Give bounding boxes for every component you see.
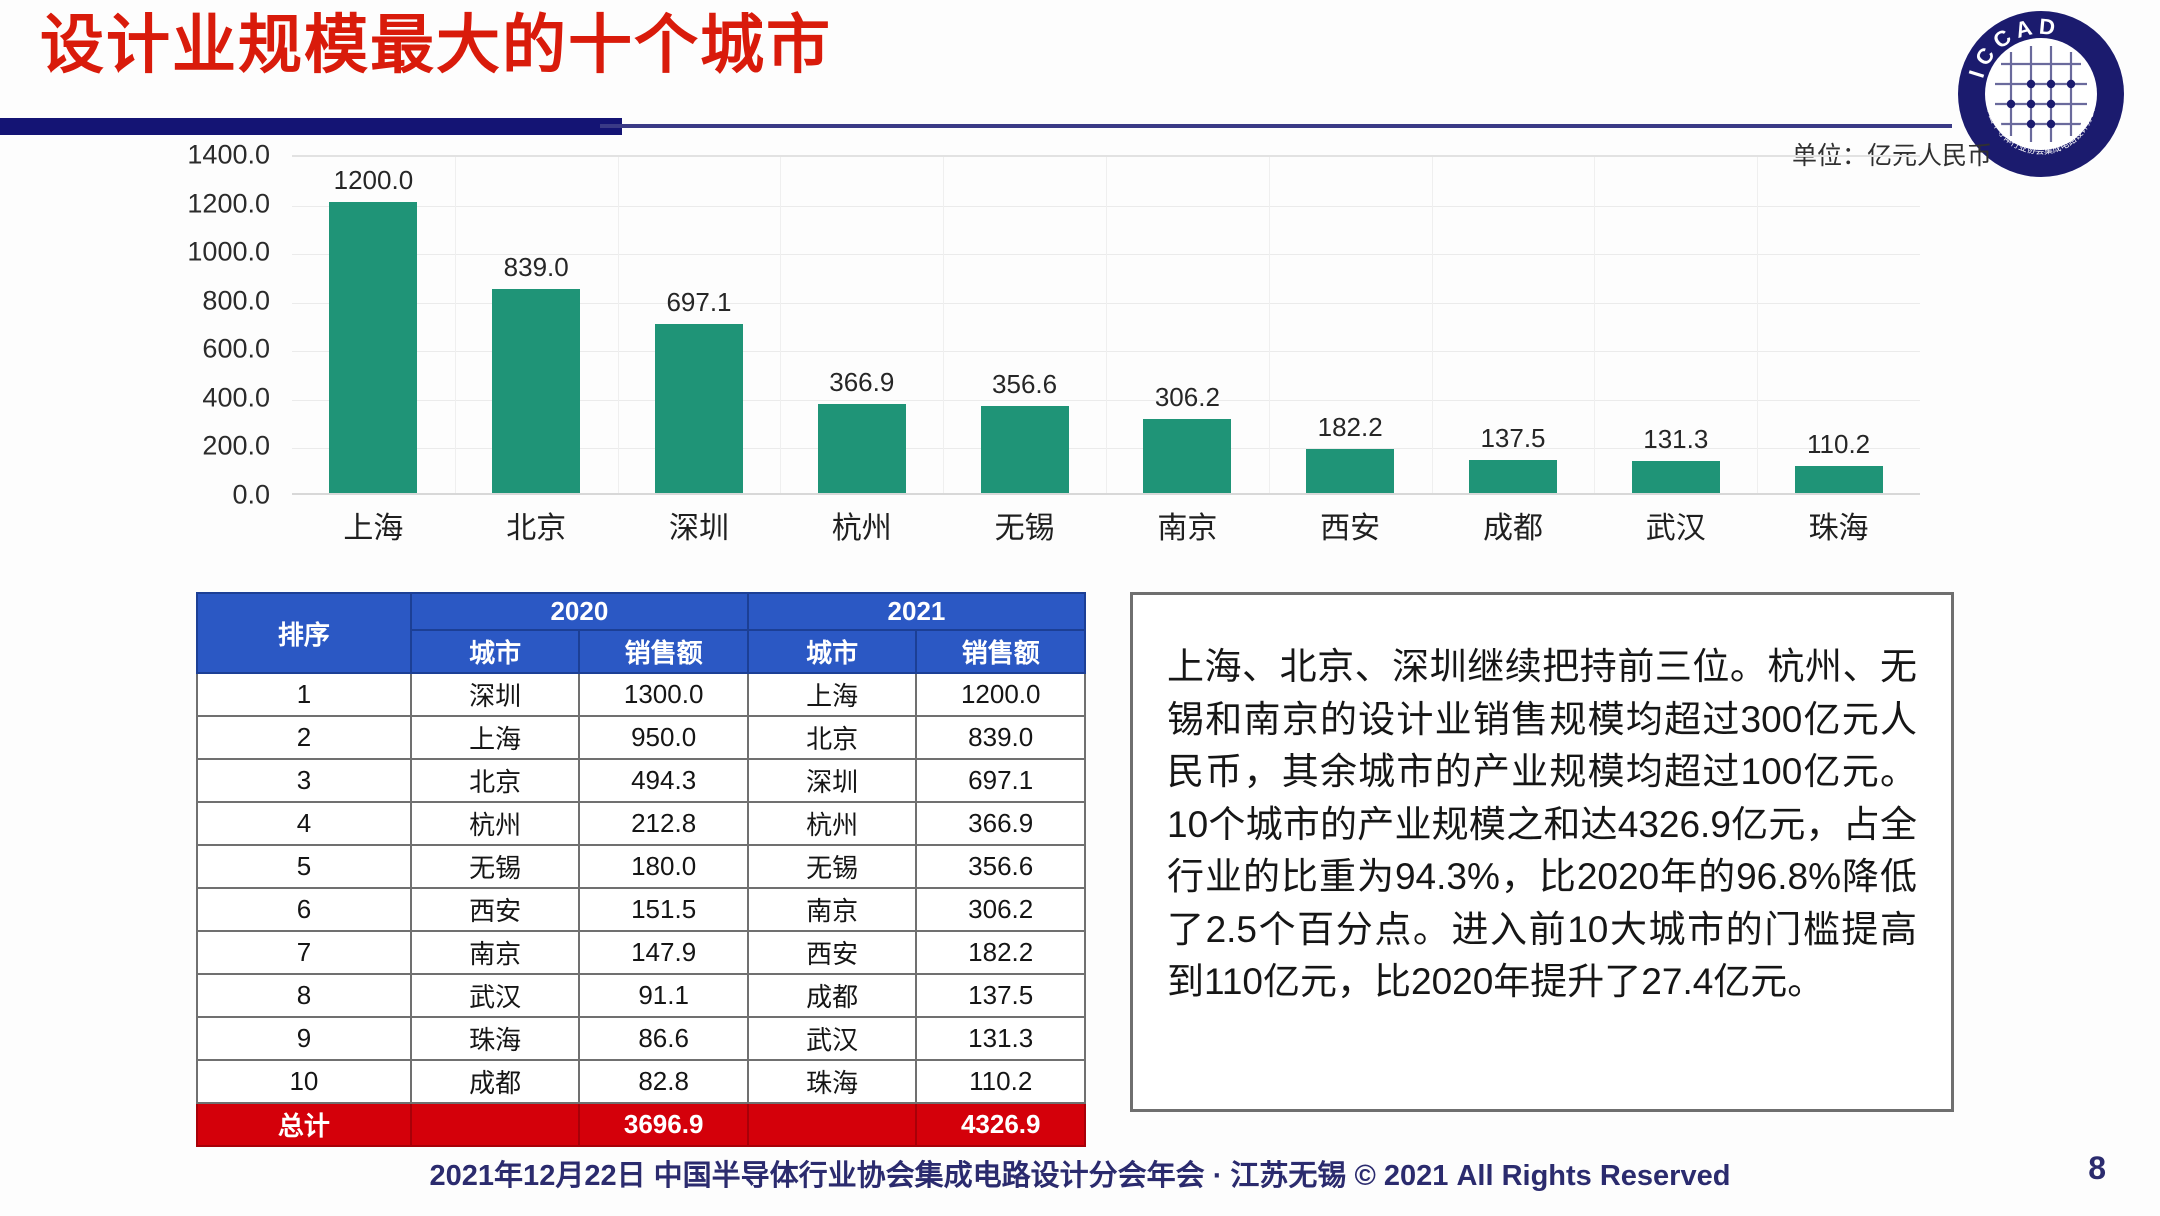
total-sales-2021: 4326.9 (916, 1103, 1085, 1146)
cell-rank: 1 (197, 673, 411, 716)
cell-rank: 7 (197, 931, 411, 974)
cell-sales-2020: 950.0 (579, 716, 748, 759)
chart-bar-slot: 1200.0 (292, 157, 455, 493)
chart-bar (1143, 419, 1231, 493)
chart-bar-value-label: 839.0 (455, 252, 618, 283)
chart-bar (655, 324, 743, 493)
chart-bar (818, 404, 906, 493)
chart-bar-value-label: 131.3 (1594, 424, 1757, 455)
cell-city-2020: 成都 (411, 1060, 580, 1103)
chart-bar-slot: 366.9 (780, 157, 943, 493)
cell-sales-2021: 839.0 (916, 716, 1085, 759)
chart-bar (981, 406, 1069, 493)
cell-sales-2021: 356.6 (916, 845, 1085, 888)
cell-rank: 8 (197, 974, 411, 1017)
total-label: 总计 (197, 1103, 411, 1146)
header-sales-2020: 销售额 (579, 630, 748, 673)
title-rule-thick (0, 118, 622, 135)
chart-bars: 1200.0839.0697.1366.9356.6306.2182.2137.… (292, 157, 1920, 493)
cell-sales-2021: 306.2 (916, 888, 1085, 931)
page-number: 8 (2088, 1150, 2106, 1187)
chart-y-tick: 200.0 (202, 431, 270, 462)
commentary-text: 上海、北京、深圳继续把持前三位。杭州、无锡和南京的设计业销售规模均超过300亿元… (1167, 641, 1917, 1009)
chart-x-tick-label: 武汉 (1594, 503, 1757, 547)
chart-bar-value-label: 306.2 (1106, 382, 1269, 413)
chart-y-tick: 1200.0 (187, 188, 270, 219)
table-row: 9珠海86.6武汉131.3 (197, 1017, 1085, 1060)
cell-sales-2020: 494.3 (579, 759, 748, 802)
table-row: 5无锡180.0无锡356.6 (197, 845, 1085, 888)
chart-y-tick: 1000.0 (187, 237, 270, 268)
chart-bar-value-label: 356.6 (943, 369, 1106, 400)
header-rank: 排序 (197, 593, 411, 673)
cell-sales-2021: 1200.0 (916, 673, 1085, 716)
table-row: 4杭州212.8杭州366.9 (197, 802, 1085, 845)
cell-sales-2021: 697.1 (916, 759, 1085, 802)
chart-bar-slot: 839.0 (455, 157, 618, 493)
chart-y-tick: 800.0 (202, 285, 270, 316)
city-ranking-table: 排序 2020 2021 城市 销售额 城市 销售额 1深圳1300.0上海12… (196, 592, 1086, 1147)
cell-city-2020: 北京 (411, 759, 580, 802)
chart-bar (1795, 466, 1883, 493)
chart-bar-slot: 306.2 (1106, 157, 1269, 493)
table-header-row-groups: 排序 2020 2021 (197, 593, 1085, 630)
table-row: 1深圳1300.0上海1200.0 (197, 673, 1085, 716)
cell-city-2021: 西安 (748, 931, 917, 974)
cell-city-2021: 无锡 (748, 845, 917, 888)
cell-rank: 6 (197, 888, 411, 931)
chart-x-axis-labels: 上海北京深圳杭州无锡南京西安成都武汉珠海 (292, 503, 1920, 547)
table-head: 排序 2020 2021 城市 销售额 城市 销售额 (197, 593, 1085, 673)
table-total-row: 总计3696.94326.9 (197, 1103, 1085, 1146)
slide-footer: 2021年12月22日 中国半导体行业协会集成电路设计分会年会 · 江苏无锡 ©… (0, 1152, 2160, 1194)
table-row: 8武汉91.1成都137.5 (197, 974, 1085, 1017)
chart-bar-slot: 137.5 (1432, 157, 1595, 493)
chart-plot-area: 1200.0839.0697.1366.9356.6306.2182.2137.… (292, 155, 1920, 495)
cell-sales-2020: 82.8 (579, 1060, 748, 1103)
cell-city-2020: 珠海 (411, 1017, 580, 1060)
table-row: 6西安151.5南京306.2 (197, 888, 1085, 931)
table-row: 7南京147.9西安182.2 (197, 931, 1085, 974)
chart-x-tick-label: 深圳 (618, 503, 781, 547)
chart-bar-value-label: 366.9 (780, 367, 943, 398)
header-year-2020: 2020 (411, 593, 748, 630)
cell-rank: 5 (197, 845, 411, 888)
table-body: 1深圳1300.0上海1200.02上海950.0北京839.03北京494.3… (197, 673, 1085, 1146)
cell-sales-2021: 366.9 (916, 802, 1085, 845)
chart-y-tick: 1400.0 (187, 140, 270, 171)
cell-sales-2020: 180.0 (579, 845, 748, 888)
table-row: 2上海950.0北京839.0 (197, 716, 1085, 759)
cell-rank: 3 (197, 759, 411, 802)
table-row: 3北京494.3深圳697.1 (197, 759, 1085, 802)
chart-bar-value-label: 110.2 (1757, 429, 1920, 460)
chart-bar (329, 202, 417, 493)
slide-root: 设计业规模最大的十个城市 (0, 0, 2160, 1216)
chart-y-axis: 1400.01200.01000.0800.0600.0400.0200.00.… (150, 155, 280, 515)
cell-city-2020: 西安 (411, 888, 580, 931)
header-city-2020: 城市 (411, 630, 580, 673)
cell-city-2021: 北京 (748, 716, 917, 759)
chart-x-tick-label: 无锡 (943, 503, 1106, 547)
chart-bar (1306, 449, 1394, 493)
cell-city-2020: 南京 (411, 931, 580, 974)
cell-rank: 9 (197, 1017, 411, 1060)
cell-sales-2021: 182.2 (916, 931, 1085, 974)
chart-bar-value-label: 182.2 (1269, 412, 1432, 443)
cell-sales-2020: 147.9 (579, 931, 748, 974)
total-city-2020 (411, 1103, 580, 1146)
header-year-2021: 2021 (748, 593, 1085, 630)
cell-city-2020: 上海 (411, 716, 580, 759)
cell-sales-2020: 212.8 (579, 802, 748, 845)
chart-x-tick-label: 珠海 (1757, 503, 1920, 547)
total-sales-2020: 3696.9 (579, 1103, 748, 1146)
commentary-box: 上海、北京、深圳继续把持前三位。杭州、无锡和南京的设计业销售规模均超过300亿元… (1130, 592, 1954, 1112)
chart-y-tick: 600.0 (202, 334, 270, 365)
title-rule-thin (600, 124, 1952, 128)
table-row: 10成都82.8珠海110.2 (197, 1060, 1085, 1103)
total-city-2021 (748, 1103, 917, 1146)
cell-city-2021: 武汉 (748, 1017, 917, 1060)
chart-x-tick-label: 杭州 (780, 503, 943, 547)
cell-rank: 2 (197, 716, 411, 759)
cell-sales-2021: 131.3 (916, 1017, 1085, 1060)
cell-sales-2020: 91.1 (579, 974, 748, 1017)
cell-sales-2020: 151.5 (579, 888, 748, 931)
cell-sales-2021: 110.2 (916, 1060, 1085, 1103)
chart-bar (1469, 460, 1557, 493)
cell-sales-2020: 86.6 (579, 1017, 748, 1060)
cell-city-2020: 武汉 (411, 974, 580, 1017)
header-city-2021: 城市 (748, 630, 917, 673)
cell-rank: 4 (197, 802, 411, 845)
chart-bar (1632, 461, 1720, 493)
chart-bar-value-label: 137.5 (1432, 423, 1595, 454)
chart-x-tick-label: 成都 (1432, 503, 1595, 547)
cell-city-2020: 深圳 (411, 673, 580, 716)
cell-sales-2021: 137.5 (916, 974, 1085, 1017)
cell-city-2021: 成都 (748, 974, 917, 1017)
cell-city-2020: 无锡 (411, 845, 580, 888)
chart-x-tick-label: 上海 (292, 503, 455, 547)
chart-bar-slot: 697.1 (618, 157, 781, 493)
chart-bar-value-label: 1200.0 (292, 165, 455, 196)
chart-bar (492, 289, 580, 493)
header-sales-2021: 销售额 (916, 630, 1085, 673)
chart-x-tick-label: 南京 (1106, 503, 1269, 547)
cell-city-2021: 上海 (748, 673, 917, 716)
page-title: 设计业规模最大的十个城市 (40, 10, 832, 80)
cell-city-2021: 珠海 (748, 1060, 917, 1103)
chart-bar-slot: 131.3 (1594, 157, 1757, 493)
cell-city-2021: 深圳 (748, 759, 917, 802)
cell-city-2021: 杭州 (748, 802, 917, 845)
chart-y-tick: 0.0 (232, 480, 270, 511)
cell-city-2020: 杭州 (411, 802, 580, 845)
cell-rank: 10 (197, 1060, 411, 1103)
chart-y-tick: 400.0 (202, 382, 270, 413)
chart-x-tick-label: 西安 (1269, 503, 1432, 547)
chart-bar-slot: 182.2 (1269, 157, 1432, 493)
bar-chart: 1400.01200.01000.0800.0600.0400.0200.00.… (150, 155, 1960, 575)
chart-bar-slot: 110.2 (1757, 157, 1920, 493)
chart-bar-value-label: 697.1 (618, 287, 781, 318)
cell-city-2021: 南京 (748, 888, 917, 931)
chart-x-tick-label: 北京 (455, 503, 618, 547)
chart-bar-slot: 356.6 (943, 157, 1106, 493)
cell-sales-2020: 1300.0 (579, 673, 748, 716)
